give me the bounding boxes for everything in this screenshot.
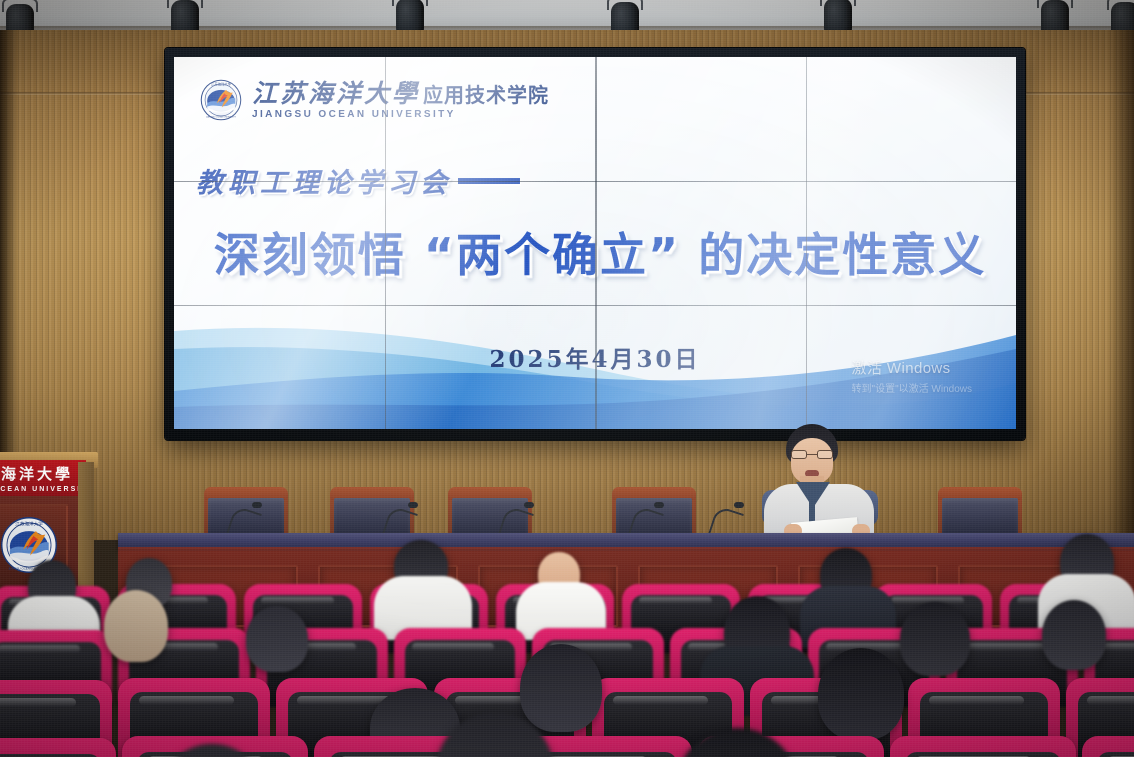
windows-activation-title: 激活 Windows xyxy=(852,357,972,378)
audience-person xyxy=(246,606,308,672)
university-name-cn: 江苏海洋大學 xyxy=(252,81,420,106)
led-video-wall[interactable]: 江苏海洋大学 JIANGSU OCEAN UNIVERSITY 江苏海洋大學 应… xyxy=(165,48,1025,440)
panel-seam-vertical xyxy=(806,57,808,429)
panel-seam-vertical xyxy=(595,57,597,429)
slide-main-title: 深刻领悟 “两个确立” 的决定性意义 xyxy=(198,219,1002,285)
panel-seam-horizontal xyxy=(174,181,1016,183)
audience-person xyxy=(104,590,168,662)
jiangsu-ocean-university-emblem-icon: 江苏海洋大学 JIANGSU OCEAN UNIVERSITY xyxy=(200,79,242,121)
lectern-banner-cn: 江苏海洋大學 xyxy=(0,463,73,484)
university-name-en: JIANGSU OCEAN UNIVERSITY xyxy=(252,110,549,120)
video-wall-screen[interactable]: 江苏海洋大学 JIANGSU OCEAN UNIVERSITY 江苏海洋大學 应… xyxy=(174,57,1016,429)
audience-chair[interactable] xyxy=(890,736,1076,757)
conference-hall-photo: 江苏海洋大学 JIANGSU OCEAN UNIVERSITY 江苏海洋大學 应… xyxy=(0,0,1134,757)
panel-seam-horizontal xyxy=(174,305,1016,307)
audience-person xyxy=(818,648,904,740)
slide-header: 江苏海洋大学 JIANGSU OCEAN UNIVERSITY 江苏海洋大學 应… xyxy=(200,79,549,121)
lectern-banner-en: JIANGSU OCEAN UNIVERSITY xyxy=(0,486,86,493)
audience-person xyxy=(1042,600,1106,670)
university-name-block: 江苏海洋大學 应用技术学院 JIANGSU OCEAN UNIVERSITY xyxy=(252,81,549,120)
college-name-cn: 应用技术学院 xyxy=(423,85,549,105)
audience-area xyxy=(0,548,1134,757)
windows-activation-watermark: 激活 Windows 转到"设置"以激活 Windows xyxy=(852,357,972,395)
lectern-banner: 江苏海洋大學 JIANGSU OCEAN UNIVERSITY xyxy=(0,460,86,496)
audience-chair[interactable] xyxy=(0,738,116,757)
head-table-chair[interactable] xyxy=(938,487,1022,539)
panel-seam-vertical xyxy=(385,57,387,429)
svg-text:江苏海洋大学: 江苏海洋大学 xyxy=(211,82,232,87)
audience-person xyxy=(520,644,602,732)
eyeglasses-icon xyxy=(791,450,833,459)
windows-activation-subtitle: 转到"设置"以激活 Windows xyxy=(852,380,972,395)
audience-person xyxy=(900,602,970,676)
wall-shadow-right xyxy=(1108,30,1134,540)
university-name-cn-row: 江苏海洋大學 应用技术学院 xyxy=(252,81,549,106)
presenter xyxy=(748,424,888,542)
audience-chair[interactable] xyxy=(1082,736,1134,757)
